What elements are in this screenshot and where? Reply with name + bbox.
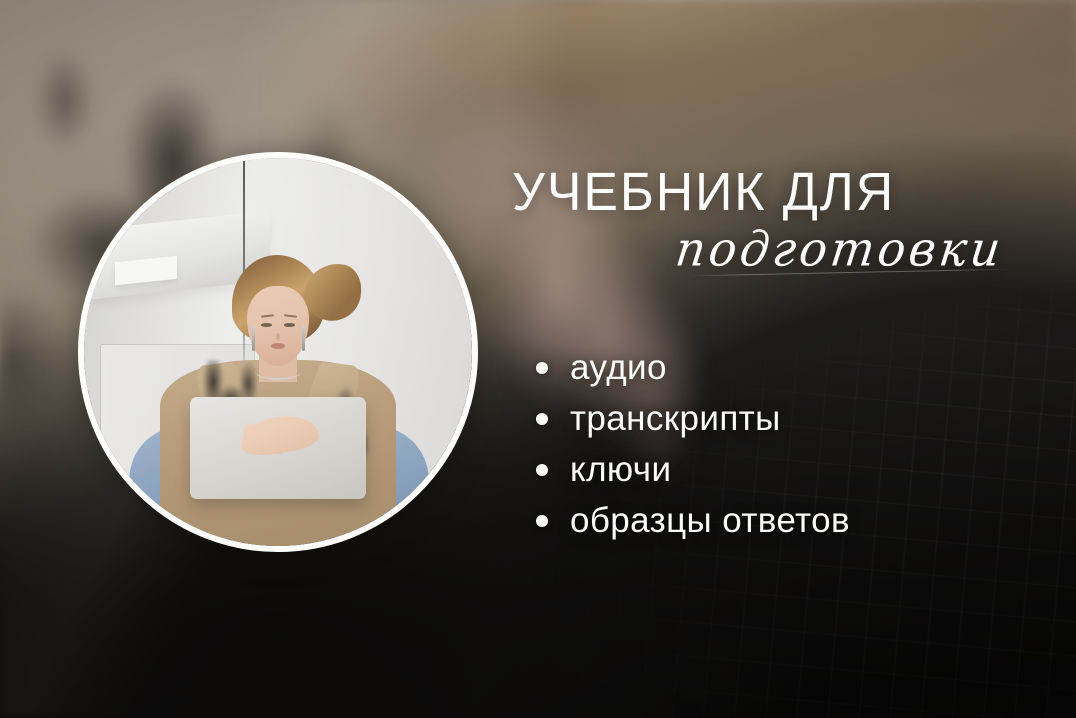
portrait-photo: [84, 158, 472, 546]
portrait-photo-circle: [78, 152, 478, 552]
list-item: образцы ответов: [536, 495, 850, 546]
bullet-dot-icon: [536, 464, 548, 476]
list-item: аудио: [536, 342, 850, 393]
photo-color-grade: [84, 158, 472, 546]
list-item: ключи: [536, 444, 850, 495]
list-item-label: аудио: [570, 348, 667, 388]
bullet-dot-icon: [536, 362, 548, 374]
page-subtitle-script: подготовки: [673, 221, 1008, 277]
list-item-label: транскрипты: [570, 399, 781, 439]
list-item: транскрипты: [536, 393, 850, 444]
bullet-dot-icon: [536, 413, 548, 425]
list-item-label: образцы ответов: [570, 501, 850, 541]
feature-list: аудио транскрипты ключи образцы ответов: [536, 342, 850, 546]
list-item-label: ключи: [570, 450, 671, 490]
page-title: УЧЕБНИК ДЛЯ: [512, 161, 895, 223]
bullet-dot-icon: [536, 515, 548, 527]
promo-slide: УЧЕБНИК ДЛЯ подготовки аудио транскрипты…: [0, 0, 1076, 718]
